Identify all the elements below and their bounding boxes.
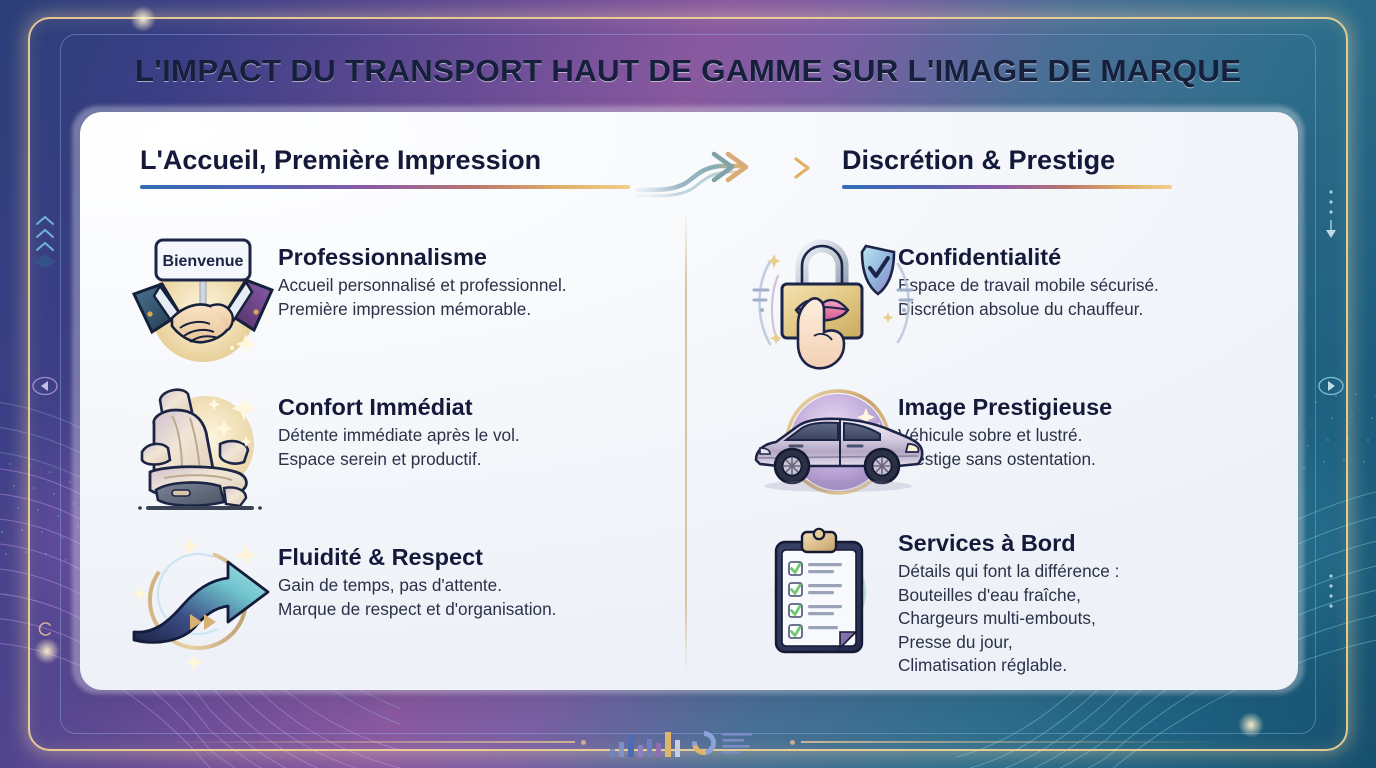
feature-desc-line: Détails qui font la différence : — [898, 560, 1119, 584]
feature-row: Confort Immédiat Détente immédiate après… — [128, 378, 520, 524]
feature-title: Professionnalisme — [278, 244, 567, 271]
feature-desc-line: Climatisation réglable. — [898, 654, 1119, 678]
footer-dot — [581, 740, 586, 745]
footer-dot — [790, 740, 795, 745]
footer-rule-right — [801, 741, 1226, 743]
feature-desc: Détente immédiate après le vol. Espace s… — [278, 424, 520, 471]
column-heading-right-text: Discrétion & Prestige — [842, 146, 1172, 176]
padlock-lips-shush-shield-icon — [748, 228, 898, 374]
feature-text: Professionnalisme Accueil personnalisé e… — [278, 228, 567, 321]
feature-desc: Détails qui font la différence : Bouteil… — [898, 560, 1119, 678]
luxury-sedan-car-icon — [748, 378, 898, 498]
feature-desc-line: Discrétion absolue du chauffeur. — [898, 298, 1159, 322]
footer-strip — [150, 722, 1226, 762]
column-heading-right: Discrétion & Prestige — [842, 146, 1172, 189]
feature-desc-line: Accueil personnalisé et professionnel. — [278, 274, 567, 298]
feature-desc-line: Gain de temps, pas d'attente. — [278, 574, 556, 598]
feature-row: Confidentialité Espace de travail mobile… — [748, 228, 1159, 374]
feature-desc: Gain de temps, pas d'attente. Marque de … — [278, 574, 556, 621]
straight-arrow-icon — [758, 159, 808, 177]
clipboard-checklist-icon — [748, 520, 898, 666]
feature-desc-line: Véhicule sobre et lustré. — [898, 424, 1112, 448]
feature-desc-line: Espace de travail mobile sécurisé. — [898, 274, 1159, 298]
title-band: L'IMPACT DU TRANSPORT HAUT DE GAMME SUR … — [60, 36, 1316, 106]
feature-desc-line: Presse du jour, — [898, 631, 1119, 655]
column-divider — [685, 212, 687, 674]
feature-row: Services à Bord Détails qui font la diff… — [748, 520, 1119, 678]
feature-title: Services à Bord — [898, 530, 1119, 557]
column-heading-left: L'Accueil, Première Impression — [140, 146, 630, 189]
heading-underline-gradient — [842, 185, 1172, 189]
curved-arrow-fast-forward-icon — [128, 528, 278, 674]
sign-label: Bienvenue — [163, 253, 244, 270]
feature-desc: Véhicule sobre et lustré. Prestige sans … — [898, 424, 1112, 471]
luxury-seat-icon — [128, 378, 278, 524]
feature-desc-line: Première impression mémorable. — [278, 298, 567, 322]
infographic-canvas: L'IMPACT DU TRANSPORT HAUT DE GAMME SUR … — [0, 0, 1376, 768]
feature-desc-line: Détente immédiate après le vol. — [278, 424, 520, 448]
feature-title: Confort Immédiat — [278, 394, 520, 421]
feature-row: Bienvenue — [128, 228, 567, 374]
feature-desc-line: Bouteilles d'eau fraîche, — [898, 584, 1119, 608]
feature-text: Fluidité & Respect Gain de temps, pas d'… — [278, 528, 556, 621]
feature-title: Image Prestigieuse — [898, 394, 1112, 421]
feature-title: Fluidité & Respect — [278, 544, 556, 571]
feature-desc-line: Chargeurs multi-embouts, — [898, 607, 1119, 631]
page-title: L'IMPACT DU TRANSPORT HAUT DE GAMME SUR … — [135, 54, 1241, 89]
heading-underline-gradient — [140, 185, 630, 189]
feature-text: Image Prestigieuse Véhicule sobre et lus… — [898, 378, 1112, 471]
connector-arrows — [636, 146, 836, 202]
handshake-welcome-sign-icon: Bienvenue — [128, 228, 278, 374]
feature-desc-line: Espace serein et productif. — [278, 448, 520, 472]
feature-row: Image Prestigieuse Véhicule sobre et lus… — [748, 378, 1112, 498]
feature-title: Confidentialité — [898, 244, 1159, 271]
feature-text: Services à Bord Détails qui font la diff… — [898, 520, 1119, 678]
feature-row: Fluidité & Respect Gain de temps, pas d'… — [128, 528, 556, 674]
feature-desc-line: Prestige sans ostentation. — [898, 448, 1112, 472]
feature-desc: Espace de travail mobile sécurisé. Discr… — [898, 274, 1159, 321]
feature-desc: Accueil personnalisé et professionnel. P… — [278, 274, 567, 321]
feature-desc-line: Marque de respect et d'organisation. — [278, 598, 556, 622]
feature-text: Confidentialité Espace de travail mobile… — [898, 228, 1159, 321]
footer-rule-left — [150, 741, 575, 743]
column-heading-left-text: L'Accueil, Première Impression — [140, 146, 630, 176]
curved-double-chevron-arrow-icon — [638, 154, 746, 196]
feature-text: Confort Immédiat Détente immédiate après… — [278, 378, 520, 471]
bar-chart-donut-chart-mark — [608, 725, 768, 759]
